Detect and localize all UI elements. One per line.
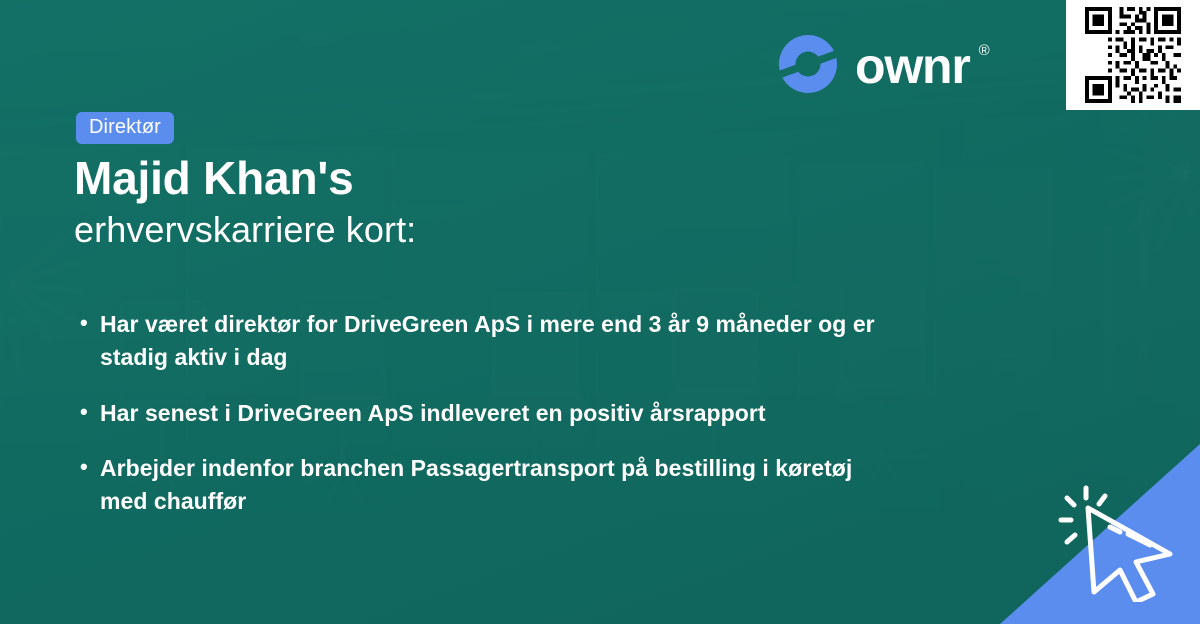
list-item: Har været direktør for DriveGreen ApS i … [74, 308, 904, 375]
list-item: Arbejder indenfor branchen Passagertrans… [74, 452, 904, 519]
career-card: Direktør Majid Khan's erhvervskarriere k… [0, 0, 1200, 624]
career-facts-list: Har været direktør for DriveGreen ApS i … [74, 308, 904, 541]
ownr-wordmark: ownr® [855, 41, 970, 91]
click-cursor-icon [1058, 482, 1188, 602]
role-badge: Direktør [76, 112, 174, 144]
registered-trademark-icon: ® [979, 43, 990, 58]
list-item: Har senest i DriveGreen ApS indleveret e… [74, 397, 904, 430]
qr-code-panel[interactable] [1066, 0, 1200, 110]
ownr-logo[interactable]: ownr® [777, 33, 970, 95]
ownr-logo-mark-icon [777, 33, 839, 95]
page-subtitle: erhvervskarriere kort: [74, 210, 416, 250]
page-title: Majid Khan's [74, 155, 353, 201]
qr-code-icon [1085, 7, 1181, 103]
